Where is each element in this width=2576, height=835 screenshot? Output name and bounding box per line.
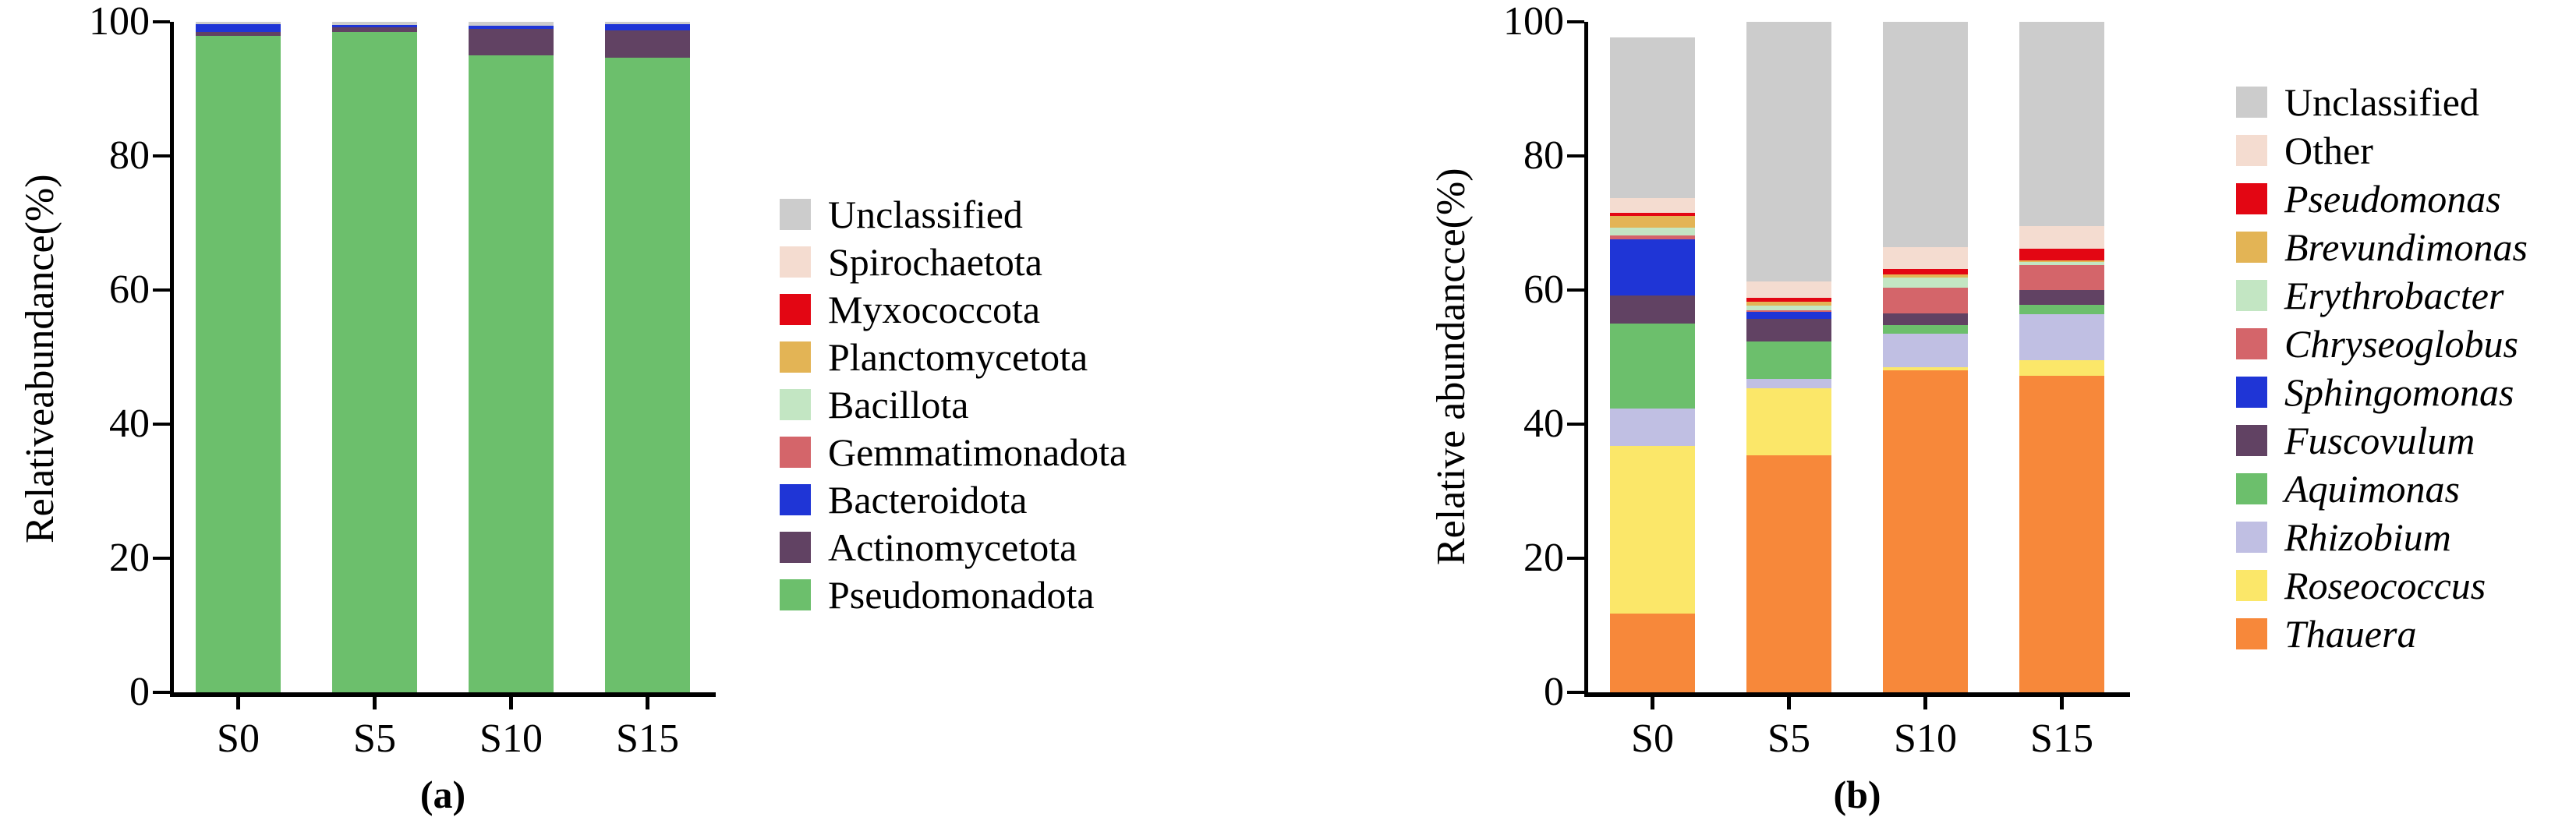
panel-b-y-tick: [1567, 423, 1584, 426]
legend-item-rhizobium[interactable]: Rhizobium: [2236, 513, 2528, 561]
bar-segment-fuscovulum[interactable]: [1746, 319, 1831, 341]
legend-label: Aquimonas: [2284, 469, 2460, 508]
panel-a-x-tick: [373, 692, 377, 709]
panel-a-y-tick: [153, 20, 170, 23]
legend-item-roseococcus[interactable]: Roseococcus: [2236, 561, 2528, 610]
bar-segment-other[interactable]: [2019, 226, 2104, 249]
stacked-bar-s5[interactable]: [332, 22, 417, 692]
bar-segment-thauera[interactable]: [1610, 614, 1695, 692]
bar-segment-unclassified[interactable]: [1610, 37, 1695, 198]
bar-segment-other[interactable]: [1883, 247, 1968, 269]
bar-segment-unclassified[interactable]: [2019, 22, 2104, 226]
panel-b-y-tick: [1567, 20, 1584, 23]
legend-swatch-icon-pseudomonadota: [780, 579, 811, 610]
bar-segment-unclassified[interactable]: [1746, 22, 1831, 281]
legend-swatch-icon-bacteroidota: [780, 484, 811, 515]
panel-a-y-tick: [153, 691, 170, 694]
panel-a-y-tick-label: 60: [109, 270, 150, 310]
legend-item-bacillota[interactable]: Bacillota: [780, 380, 1127, 428]
bar-segment-brevundimonas[interactable]: [1610, 216, 1695, 228]
bar-segment-rhizobium[interactable]: [1610, 409, 1695, 446]
stacked-bar-s0[interactable]: [1610, 22, 1695, 692]
panel-b-x-tick-label-s15: S15: [2030, 719, 2093, 759]
bar-segment-aquimonas[interactable]: [1746, 341, 1831, 378]
legend-label: Actinomycetota: [828, 528, 1077, 567]
panel-a-x-tick: [509, 692, 513, 709]
bar-segment-actinomycetota[interactable]: [469, 29, 554, 55]
panel-a-y-tick: [153, 423, 170, 426]
panel-b-x-tick-label-s0: S0: [1631, 719, 1674, 759]
legend-swatch-icon-roseococcus: [2236, 570, 2267, 601]
legend-item-spirochaetota[interactable]: Spirochaetota: [780, 238, 1127, 285]
legend-item-actinomycetota[interactable]: Actinomycetota: [780, 523, 1127, 571]
bar-segment-aquimonas[interactable]: [1883, 325, 1968, 334]
bar-segment-other[interactable]: [1746, 281, 1831, 298]
legend-swatch-icon-planctomycetota: [780, 341, 811, 373]
bar-segment-chryseoglobus[interactable]: [1883, 288, 1968, 313]
panel-b-y-tick: [1567, 154, 1584, 157]
legend-swatch-icon-pseudomonas: [2236, 183, 2267, 214]
legend-label: Other: [2284, 131, 2373, 170]
panel-a-y-tick-label: 80: [109, 136, 150, 176]
legend-item-planctomycetota[interactable]: Planctomycetota: [780, 333, 1127, 380]
bar-segment-bacteroidota[interactable]: [196, 24, 281, 32]
bar-segment-pseudomonas[interactable]: [1883, 269, 1968, 274]
panel-b-caption: (b): [1833, 772, 1881, 817]
legend-item-pseudomonadota[interactable]: Pseudomonadota: [780, 571, 1127, 618]
legend-item-sphingomonas[interactable]: Sphingomonas: [2236, 368, 2528, 416]
bar-segment-chryseoglobus[interactable]: [2019, 265, 2104, 290]
panel-a-x-tick-label-s0: S0: [217, 719, 260, 759]
legend-label: Pseudomonas: [2284, 179, 2501, 218]
panel-b-y-tick: [1567, 288, 1584, 292]
bar-segment-thauera[interactable]: [2019, 376, 2104, 692]
legend-item-aquimonas[interactable]: Aquimonas: [2236, 465, 2528, 513]
panel-a-x-tick: [236, 692, 240, 709]
panel-b-x-tick-label-s10: S10: [1894, 719, 1957, 759]
legend-swatch-icon-actinomycetota: [780, 532, 811, 563]
legend-label: Sphingomonas: [2284, 373, 2514, 412]
legend-label: Thauera: [2284, 614, 2416, 653]
legend-swatch-icon-myxococcota: [780, 294, 811, 325]
stacked-bar-s0[interactable]: [196, 22, 281, 692]
panel-a-x-tick: [646, 692, 649, 709]
panel-b-y-tick-label: 40: [1523, 404, 1564, 444]
panel-a-y-tick: [153, 557, 170, 560]
legend-label: Brevundimonas: [2284, 228, 2528, 267]
panel-b-x-tick: [1923, 692, 1927, 709]
panel-b-y-tick: [1567, 557, 1584, 560]
legend-item-pseudomonas[interactable]: Pseudomonas: [2236, 175, 2528, 223]
panel-a-y-tick-label: 100: [89, 2, 150, 42]
legend-swatch-icon-bacillota: [780, 389, 811, 420]
legend-swatch-icon-chryseoglobus: [2236, 328, 2267, 359]
panel-b-x-tick: [1651, 692, 1654, 709]
legend-label: Bacteroidota: [828, 480, 1027, 519]
legend-swatch-icon-spirochaetota: [780, 246, 811, 278]
legend-swatch-icon-brevundimonas: [2236, 232, 2267, 263]
legend-label: Chryseoglobus: [2284, 324, 2518, 363]
legend-label: Gemmatimonadota: [828, 433, 1127, 472]
legend-item-brevundimonas[interactable]: Brevundimonas: [2236, 223, 2528, 271]
panel-b-y-tick-label: 0: [1544, 672, 1564, 713]
stacked-bar-s15[interactable]: [2019, 22, 2104, 692]
panel-b: Relative abundancce(%) 020406080100S0S5S…: [1279, 0, 2576, 835]
legend-swatch-icon-other: [2236, 135, 2267, 166]
panel-b-plot-area: 020406080100S0S5S10S15: [1584, 22, 2130, 692]
bar-segment-fuscovulum[interactable]: [1610, 295, 1695, 324]
stacked-bar-s5[interactable]: [1746, 22, 1831, 692]
bar-segment-unclassified[interactable]: [1883, 22, 1968, 247]
bar-segment-sphingomonas[interactable]: [1746, 312, 1831, 319]
panel-a-y-tick-label: 0: [129, 672, 150, 713]
bar-segment-fuscovulum[interactable]: [1883, 313, 1968, 325]
panel-a-y-tick-label: 40: [109, 404, 150, 444]
panel-a-y-tick: [153, 154, 170, 157]
panel-a-y-tick: [153, 288, 170, 292]
panel-a-y-tick-label: 20: [109, 538, 150, 578]
bar-segment-erythrobacter[interactable]: [1883, 278, 1968, 288]
legend-swatch-icon-unclassified: [780, 199, 811, 230]
legend-label: Fuscovulum: [2284, 421, 2475, 460]
legend-label: Myxococcota: [828, 290, 1040, 329]
legend-item-thauera[interactable]: Thauera: [2236, 610, 2528, 658]
legend-swatch-icon-unclassified: [2236, 87, 2267, 118]
bar-segment-roseococcus[interactable]: [2019, 360, 2104, 376]
panel-b-y-tick: [1567, 691, 1584, 694]
figure-root: Relativeabundance(%) 020406080100S0S5S10…: [0, 0, 2576, 835]
legend-label: Spirochaetota: [828, 242, 1042, 281]
legend-swatch-icon-thauera: [2236, 618, 2267, 649]
panel-b-x-axis: [1584, 692, 2130, 697]
panel-b-y-axis: [1584, 22, 1588, 697]
panel-a-legend: UnclassifiedSpirochaetotaMyxococcotaPlan…: [780, 190, 1127, 618]
bar-segment-erythrobacter[interactable]: [1610, 228, 1695, 235]
legend-label: Roseococcus: [2284, 566, 2486, 605]
bar-segment-actinomycetota[interactable]: [605, 30, 690, 57]
bar-segment-bacteroidota[interactable]: [605, 24, 690, 30]
panel-b-y-axis-label: Relative abundancce(%): [1428, 94, 1474, 639]
legend-item-unclassified[interactable]: Unclassified: [2236, 78, 2528, 126]
legend-swatch-icon-sphingomonas: [2236, 377, 2267, 408]
panel-a-x-tick-label-s10: S10: [479, 719, 543, 759]
bar-segment-rhizobium[interactable]: [1883, 334, 1968, 368]
legend-label: Erythrobacter: [2284, 276, 2503, 315]
bar-segment-roseococcus[interactable]: [1746, 388, 1831, 455]
panel-b-y-tick-label: 20: [1523, 538, 1564, 578]
legend-item-unclassified[interactable]: Unclassified: [780, 190, 1127, 238]
bar-segment-sphingomonas[interactable]: [1610, 239, 1695, 295]
panel-a-caption: (a): [420, 772, 465, 817]
stacked-bar-s15[interactable]: [605, 22, 690, 692]
legend-label: Planctomycetota: [828, 338, 1088, 377]
bar-segment-thauera[interactable]: [1883, 370, 1968, 692]
bar-segment-thauera[interactable]: [1746, 455, 1831, 692]
stacked-bar-s10[interactable]: [1883, 22, 1968, 692]
legend-item-other[interactable]: Other: [2236, 126, 2528, 175]
bar-segment-aquimonas[interactable]: [2019, 305, 2104, 314]
legend-swatch-icon-aquimonas: [2236, 473, 2267, 504]
legend-item-gemmatimonadota[interactable]: Gemmatimonadota: [780, 428, 1127, 476]
panel-b-legend: UnclassifiedOtherPseudomonasBrevundimona…: [2236, 78, 2528, 658]
panel-b-x-tick: [2060, 692, 2064, 709]
legend-item-fuscovulum[interactable]: Fuscovulum: [2236, 416, 2528, 465]
legend-swatch-icon-gemmatimonadota: [780, 437, 811, 468]
legend-label: Unclassified: [828, 195, 1023, 234]
panel-b-x-tick: [1787, 692, 1791, 709]
panel-a-x-tick-label-s5: S5: [353, 719, 396, 759]
bar-segment-aquimonas[interactable]: [1610, 324, 1695, 409]
legend-label: Pseudomonadota: [828, 575, 1095, 614]
panel-b-x-tick-label-s5: S5: [1767, 719, 1810, 759]
legend-swatch-icon-erythrobacter: [2236, 280, 2267, 311]
bar-segment-other[interactable]: [1610, 198, 1695, 213]
legend-item-bacteroidota[interactable]: Bacteroidota: [780, 476, 1127, 523]
bar-segment-pseudomonadota[interactable]: [605, 58, 690, 692]
legend-swatch-icon-fuscovulum: [2236, 425, 2267, 456]
panel-b-y-tick-label: 60: [1523, 270, 1564, 310]
legend-swatch-icon-rhizobium: [2236, 522, 2267, 553]
legend-item-chryseoglobus[interactable]: Chryseoglobus: [2236, 320, 2528, 368]
panel-b-y-tick-label: 80: [1523, 136, 1564, 176]
panel-a-y-axis-label: Relativeabundance(%): [17, 101, 63, 616]
legend-label: Bacillota: [828, 385, 969, 424]
panel-a-x-tick-label-s15: S15: [616, 719, 679, 759]
panel-a-x-axis: [170, 692, 716, 697]
bar-segment-pseudomonadota[interactable]: [469, 55, 554, 692]
bar-segment-pseudomonadota[interactable]: [332, 32, 417, 692]
panel-a-y-axis: [170, 22, 174, 697]
bar-segment-roseococcus[interactable]: [1610, 446, 1695, 613]
legend-item-erythrobacter[interactable]: Erythrobacter: [2236, 271, 2528, 320]
bar-segment-rhizobium[interactable]: [1746, 379, 1831, 389]
stacked-bar-s10[interactable]: [469, 22, 554, 692]
legend-label: Unclassified: [2284, 83, 2479, 122]
bar-segment-pseudomonas[interactable]: [2019, 249, 2104, 260]
panel-a: Relativeabundance(%) 020406080100S0S5S10…: [0, 0, 1279, 835]
panel-b-y-tick-label: 100: [1503, 2, 1564, 42]
legend-item-myxococcota[interactable]: Myxococcota: [780, 285, 1127, 333]
bar-segment-pseudomonadota[interactable]: [196, 36, 281, 692]
panel-a-plot-area: 020406080100S0S5S10S15: [170, 22, 716, 692]
bar-segment-fuscovulum[interactable]: [2019, 290, 2104, 305]
bar-segment-rhizobium[interactable]: [2019, 314, 2104, 360]
legend-label: Rhizobium: [2284, 518, 2451, 557]
